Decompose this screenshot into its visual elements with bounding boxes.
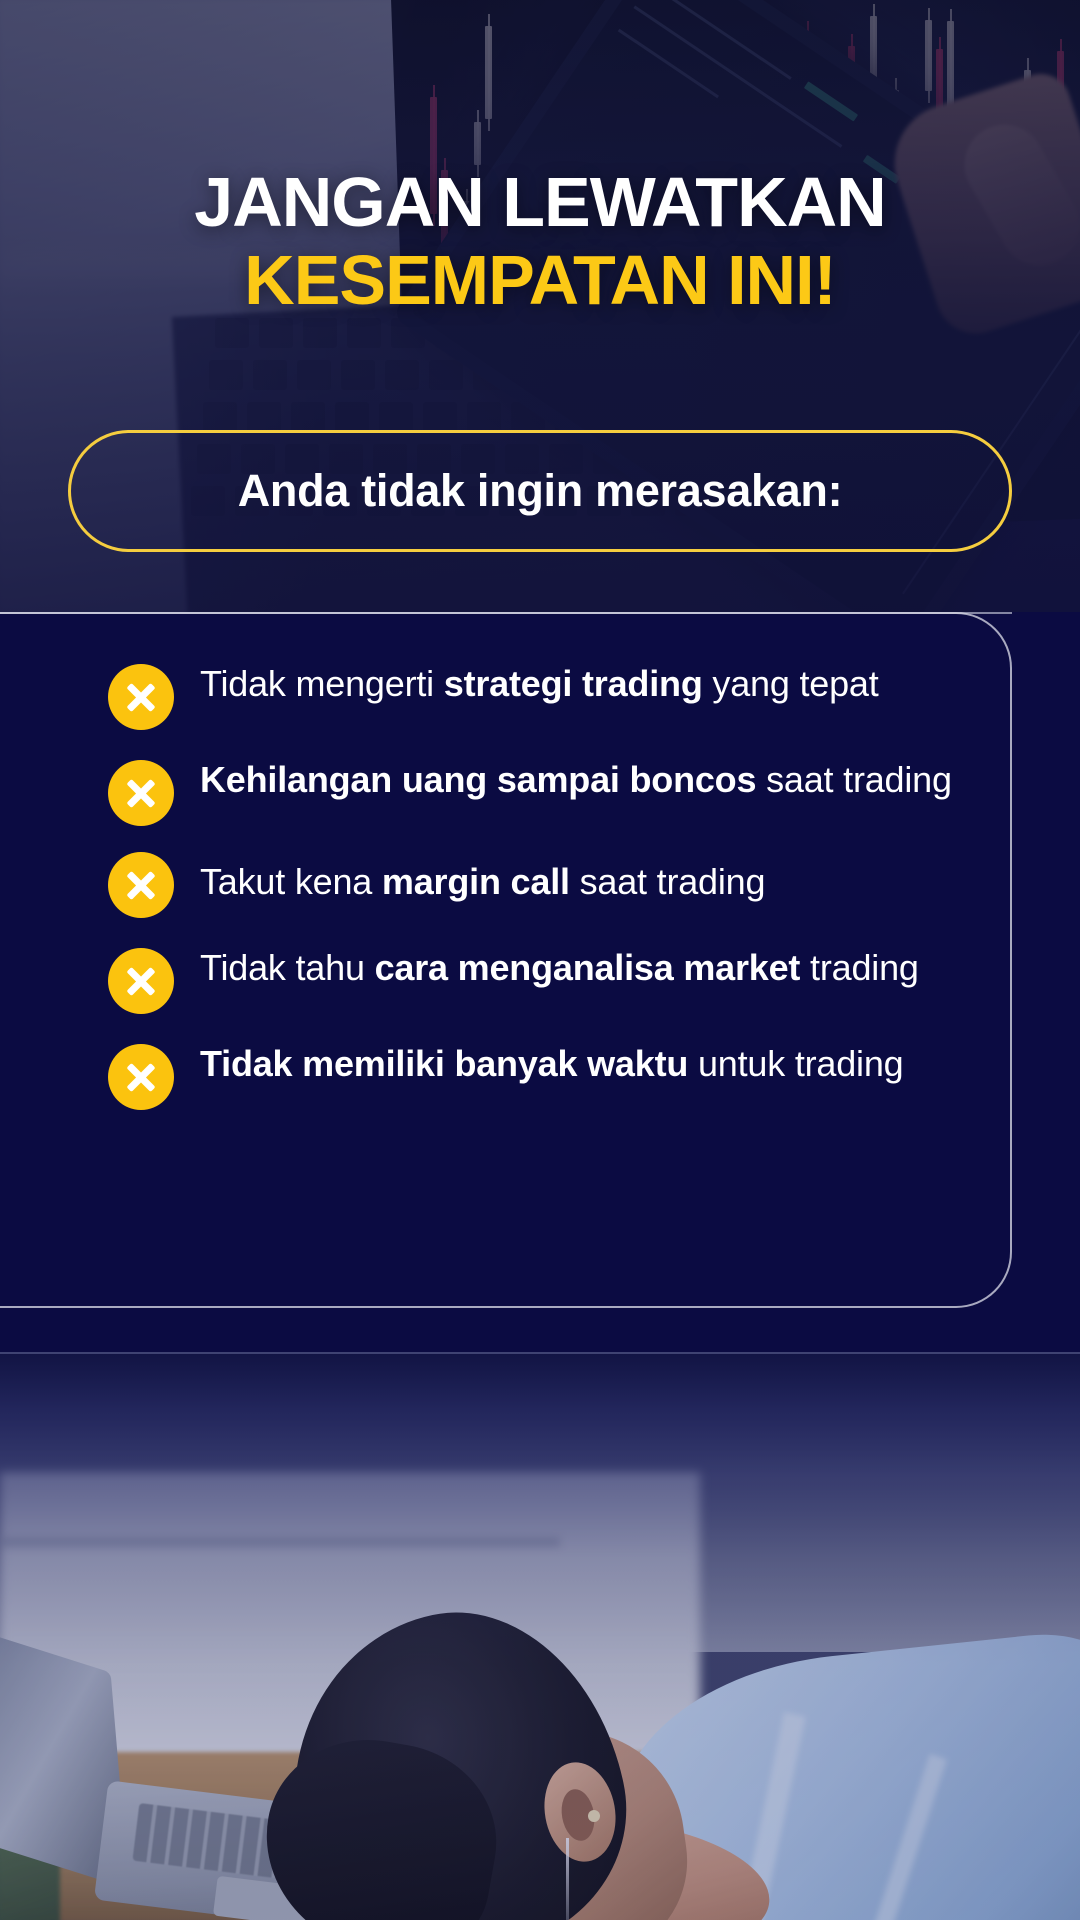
cross-circle-icon: [108, 664, 174, 730]
list-item: Tidak memiliki banyak waktu untuk tradin…: [0, 1040, 1012, 1110]
list-item-text: Kehilangan uang sampai boncos saat tradi…: [200, 756, 952, 802]
cross-circle-icon: [108, 852, 174, 918]
list-item: Kehilangan uang sampai boncos saat tradi…: [0, 756, 1012, 826]
list-item-emphasis: cara menganalisa market: [375, 947, 801, 988]
list-item: Tidak mengerti strategi trading yang tep…: [0, 660, 1012, 730]
list-item-emphasis: Kehilangan uang sampai boncos: [200, 759, 756, 800]
cross-circle-icon: [108, 760, 174, 826]
cross-circle-icon: [108, 1044, 174, 1110]
subheading-box: Anda tidak ingin merasakan:: [68, 430, 1012, 552]
cross-circle-icon: [108, 948, 174, 1014]
hero-section: JANGAN LEWATKAN KESEMPATAN INI! Anda tid…: [0, 0, 1080, 612]
list-item-text: Tidak memiliki banyak waktu untuk tradin…: [200, 1040, 904, 1086]
list-item-emphasis: margin call: [382, 861, 570, 902]
pain-points-list: Tidak mengerti strategi trading yang tep…: [0, 612, 1012, 1136]
list-item-text: Takut kena margin call saat trading: [200, 852, 765, 904]
promo-flyer: JANGAN LEWATKAN KESEMPATAN INI! Anda tid…: [0, 0, 1080, 1920]
list-item-emphasis: strategi trading: [444, 663, 703, 704]
headline-line-1: JANGAN LEWATKAN: [0, 168, 1080, 237]
list-item-emphasis: Tidak memiliki banyak waktu: [200, 1043, 688, 1084]
list-item-text: Tidak tahu cara menganalisa market tradi…: [200, 944, 919, 990]
bottom-photo-overlay: [0, 1352, 1080, 1920]
list-item: Takut kena margin call saat trading: [0, 852, 1012, 918]
headline-line-2: KESEMPATAN INI!: [0, 243, 1080, 317]
bottom-photo-section: [0, 1352, 1080, 1920]
page-title: JANGAN LEWATKAN KESEMPATAN INI!: [0, 168, 1080, 317]
hero-content: JANGAN LEWATKAN KESEMPATAN INI! Anda tid…: [0, 0, 1080, 612]
bottom-section-seam: [0, 1352, 1080, 1354]
list-item: Tidak tahu cara menganalisa market tradi…: [0, 944, 1012, 1014]
list-item-text: Tidak mengerti strategi trading yang tep…: [200, 660, 879, 706]
subheading-text: Anda tidak ingin merasakan:: [238, 465, 843, 517]
